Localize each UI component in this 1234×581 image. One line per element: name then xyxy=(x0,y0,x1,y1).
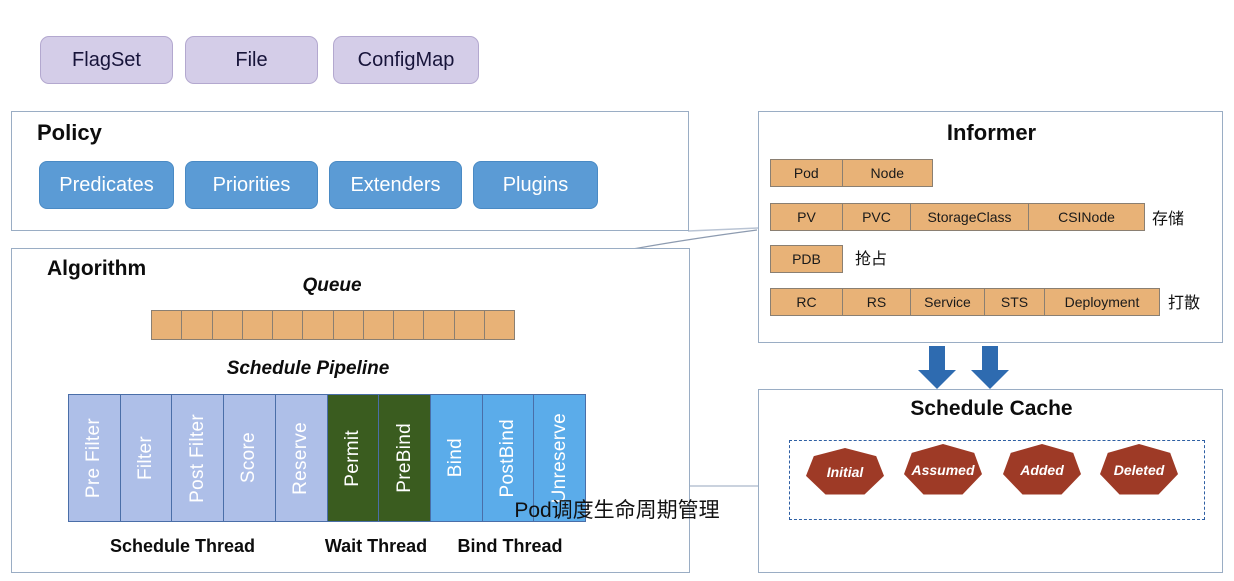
informer-cell-service[interactable]: Service xyxy=(911,289,985,315)
informer-cell-label: Pod xyxy=(794,165,819,181)
informer-cell-csinode[interactable]: CSINode xyxy=(1029,204,1144,230)
queue-cell[interactable] xyxy=(485,311,514,339)
informer-note-storage: 存储 xyxy=(1152,205,1184,229)
thread-label-bind: Bind Thread xyxy=(445,536,575,557)
pipeline-stage-label: PreBind xyxy=(394,423,416,493)
policy-chip-label: Predicates xyxy=(59,174,154,197)
queue[interactable] xyxy=(151,310,515,340)
source-chip-file[interactable]: File xyxy=(185,36,318,84)
source-chip-configmap[interactable]: ConfigMap xyxy=(333,36,479,84)
pipeline-stage-label: Permit xyxy=(342,430,364,487)
pipeline-stage-label: Pre Filter xyxy=(83,418,105,498)
informer-cell-storageclass[interactable]: StorageClass xyxy=(911,204,1029,230)
state-label: Assumed xyxy=(911,463,974,478)
queue-cell[interactable] xyxy=(424,311,454,339)
informer-cell-label: PDB xyxy=(792,251,821,267)
pipeline-stage-label: Score xyxy=(238,432,260,483)
policy-chip-predicates[interactable]: Predicates xyxy=(39,161,174,209)
queue-cell[interactable] xyxy=(152,311,182,339)
schedule-cache-title: Schedule Cache xyxy=(759,397,1224,421)
pipeline-label: Schedule Pipeline xyxy=(208,358,408,380)
informer-cell-pod[interactable]: Pod xyxy=(771,160,843,186)
pod-lifecycle-caption: Pod调度生命周期管理 xyxy=(0,494,1234,524)
informer-cell-label: PVC xyxy=(862,209,891,225)
informer-row[interactable]: RC RS Service STS Deployment xyxy=(770,288,1160,316)
informer-cell-sts[interactable]: STS xyxy=(985,289,1045,315)
policy-chip-extenders[interactable]: Extenders xyxy=(329,161,462,209)
queue-cell[interactable] xyxy=(273,311,303,339)
queue-label: Queue xyxy=(232,275,432,297)
queue-cell[interactable] xyxy=(213,311,243,339)
down-arrow-icon xyxy=(968,346,1012,390)
pipeline-stage-label: Unreserve xyxy=(549,413,571,503)
informer-cell-label: Service xyxy=(924,294,971,310)
informer-row[interactable]: PV PVC StorageClass CSINode xyxy=(770,203,1145,231)
policy-chip-label: Extenders xyxy=(350,174,440,197)
pipeline-stage-label: PostBind xyxy=(497,419,519,497)
informer-cell-pvc[interactable]: PVC xyxy=(843,204,911,230)
source-chip-label: ConfigMap xyxy=(358,49,455,72)
state-label: Initial xyxy=(827,465,864,480)
pipeline-stage-label: Filter xyxy=(135,436,157,480)
queue-cell[interactable] xyxy=(303,311,333,339)
informer-note-preemption: 抢占 xyxy=(855,245,887,269)
informer-panel-title: Informer xyxy=(759,120,1224,146)
state-label: Deleted xyxy=(1114,463,1165,478)
policy-chip-label: Plugins xyxy=(503,174,569,197)
informer-cell-deployment[interactable]: Deployment xyxy=(1045,289,1159,315)
queue-cell[interactable] xyxy=(334,311,364,339)
informer-cell-pdb[interactable]: PDB xyxy=(771,246,842,272)
source-chip-label: FlagSet xyxy=(72,49,141,72)
pipeline-stage-label: Post Filter xyxy=(187,414,209,503)
thread-label-schedule: Schedule Thread xyxy=(70,536,295,557)
informer-cell-label: Deployment xyxy=(1065,294,1140,310)
informer-note-spread: 打散 xyxy=(1168,289,1200,313)
connector-policy-to-informer xyxy=(688,228,758,231)
pipeline-stage-label: Bind xyxy=(445,438,467,477)
informer-cell-label: StorageClass xyxy=(927,209,1011,225)
policy-chip-priorities[interactable]: Priorities xyxy=(185,161,318,209)
queue-cell[interactable] xyxy=(364,311,394,339)
source-chip-label: File xyxy=(235,49,267,72)
informer-cell-rc[interactable]: RC xyxy=(771,289,843,315)
source-chip-flagset[interactable]: FlagSet xyxy=(40,36,173,84)
informer-row[interactable]: PDB xyxy=(770,245,843,273)
informer-cell-label: PV xyxy=(797,209,816,225)
informer-row[interactable]: Pod Node xyxy=(770,159,933,187)
policy-panel-title: Policy xyxy=(37,120,102,146)
thread-label-wait: Wait Thread xyxy=(310,536,442,557)
informer-cell-pv[interactable]: PV xyxy=(771,204,843,230)
queue-cell[interactable] xyxy=(455,311,485,339)
policy-chip-plugins[interactable]: Plugins xyxy=(473,161,598,209)
informer-cell-label: RC xyxy=(796,294,816,310)
informer-cell-label: CSINode xyxy=(1058,209,1115,225)
informer-cell-label: RS xyxy=(867,294,886,310)
queue-cell[interactable] xyxy=(182,311,212,339)
diagram-canvas: FlagSet File ConfigMap Policy Predicates… xyxy=(0,0,1234,581)
queue-cell[interactable] xyxy=(394,311,424,339)
policy-chip-label: Priorities xyxy=(213,174,291,197)
informer-cell-label: STS xyxy=(1001,294,1028,310)
informer-cell-node[interactable]: Node xyxy=(843,160,932,186)
algorithm-panel-title: Algorithm xyxy=(47,257,146,281)
down-arrow-icon xyxy=(915,346,959,390)
informer-cell-rs[interactable]: RS xyxy=(843,289,911,315)
queue-cell[interactable] xyxy=(243,311,273,339)
pipeline-stage-label: Reserve xyxy=(290,422,312,495)
state-label: Added xyxy=(1020,463,1064,478)
informer-cell-label: Node xyxy=(871,165,904,181)
